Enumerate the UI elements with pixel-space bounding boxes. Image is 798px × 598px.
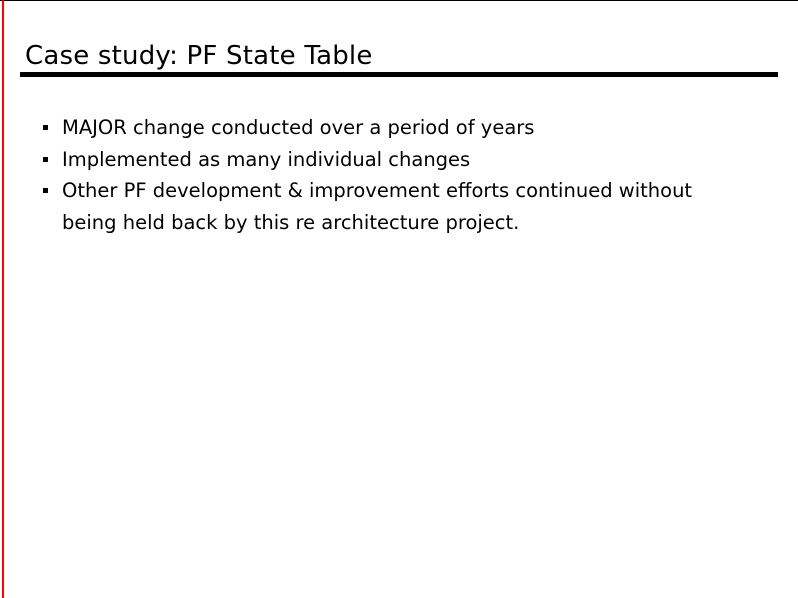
bullet-list: MAJOR change conducted over a period of … bbox=[43, 112, 743, 238]
list-item: MAJOR change conducted over a period of … bbox=[43, 112, 743, 144]
square-bullet-icon bbox=[43, 157, 48, 162]
list-item: Implemented as many individual changes bbox=[43, 144, 743, 176]
list-item-text: MAJOR change conducted over a period of … bbox=[62, 112, 743, 144]
list-item-text: Implemented as many individual changes bbox=[62, 144, 743, 176]
page-title: Case study: PF State Table bbox=[25, 40, 755, 72]
title-underline-rule bbox=[20, 72, 778, 77]
list-item-text: Other PF development & improvement effor… bbox=[62, 175, 743, 238]
left-red-accent-bar bbox=[2, 0, 4, 598]
top-edge-divider bbox=[0, 0, 798, 1]
square-bullet-icon bbox=[43, 125, 48, 130]
list-item: Other PF development & improvement effor… bbox=[43, 175, 743, 238]
slide-canvas: Case study: PF State Table MAJOR change … bbox=[0, 0, 798, 598]
square-bullet-icon bbox=[43, 188, 48, 193]
